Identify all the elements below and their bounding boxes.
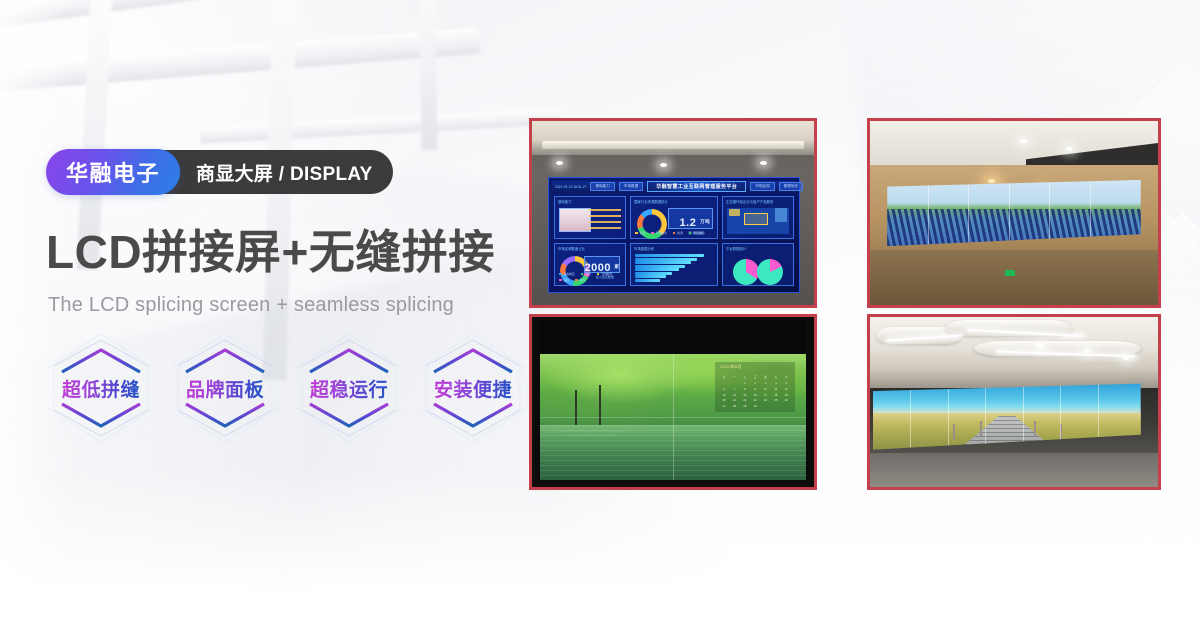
gallery-photo-indoor-willow-lake-wall[interactable]: 2021年6月 日 一 二 三 四 五 六 1 2 (529, 314, 817, 490)
dashboard-metric-value: 1.2 (680, 217, 697, 229)
dashboard-tab[interactable]: 管理系统 (779, 182, 803, 191)
calendar-day: 21 (730, 398, 739, 403)
feature-badge: 超低拼缝 (46, 332, 156, 444)
calendar-day: 3 (761, 381, 770, 386)
gallery-photo-hall-long-curved-wall[interactable] (867, 314, 1161, 490)
dashboard-legend-item: 检测 (673, 231, 683, 235)
feature-badge: 品牌面板 (170, 332, 280, 444)
calendar-day: 27 (719, 404, 728, 409)
dashboard-tab[interactable]: 市场数据 (619, 182, 643, 191)
feature-badge: 超稳运行 (294, 332, 404, 444)
feature-badge-label: 品牌面板 (186, 375, 264, 402)
calendar-day: 24 (761, 398, 770, 403)
dashboard-tab[interactable]: 市场监测 (750, 182, 774, 191)
calendar-day: 23 (751, 398, 760, 403)
calendar-day: 20 (719, 398, 728, 403)
calendar-day: 19 (782, 393, 791, 398)
dashboard-legend-item: 运输 (559, 278, 569, 282)
dashboard-card: 市场数据分布 (630, 243, 718, 286)
video-wall-screen: 2021年6月 日 一 二 三 四 五 六 1 2 (540, 354, 805, 480)
dashboard-card-heading: 基础能力 (558, 199, 572, 204)
dashboard-tab[interactable]: 基础能力 (590, 182, 614, 191)
brand-pill-label: 华融电子 (66, 156, 160, 188)
calendar-day: 16 (751, 393, 760, 398)
calendar-weekday: 一 (730, 375, 739, 380)
exit-sign-icon (1005, 270, 1015, 276)
calendar-day (719, 381, 728, 386)
dashboard-header: 2021-09-13 16:51:27 基础能力 市场数据 华融智慧工业互联网管… (552, 181, 796, 192)
dashboard-card: 平台数据统计 (722, 243, 794, 286)
feature-badge-row: 超低拼缝 品牌面板 (46, 332, 528, 444)
dashboard-card: 国家行业资源数据统计 1.2 万吨 累计处理量 管理 环保技术 检测 再生资源 (630, 196, 718, 239)
calendar-day: 6 (719, 387, 728, 392)
calendar-day: 10 (761, 387, 770, 392)
feature-badge-label: 超低拼缝 (62, 375, 140, 402)
gallery-photo-control-room-dashboard[interactable]: 2021-09-13 16:51:27 基础能力 市场数据 华融智慧工业互联网管… (529, 118, 817, 308)
calendar-day: 8 (740, 387, 749, 392)
calendar-day: 13 (719, 393, 728, 398)
calendar-day: 12 (782, 387, 791, 392)
calendar-day: 26 (782, 398, 791, 403)
category-pill-label: 商显大屏 / DISPLAY (196, 159, 373, 186)
calendar-day: 2 (751, 381, 760, 386)
page-subtitle: The LCD splicing screen + seamless splic… (48, 294, 454, 317)
calendar-day: 14 (730, 393, 739, 398)
calendar-weekday: 五 (771, 375, 780, 380)
dashboard-card-heading: 国家行业资源数据统计 (634, 199, 668, 204)
dashboard-card: 市场区域覆盖占比 2000 家 接入企业数量 设备制造 回收 咨询服务 运输 (554, 243, 626, 286)
calendar-day: 18 (771, 393, 780, 398)
dashboard-timestamp: 2021-09-13 16:51:27 (555, 185, 586, 189)
banner-stage: 华融电子 商显大屏 / DISPLAY LCD拼接屏+无缝拼接 The LCD … (0, 0, 1200, 640)
calendar-day (730, 381, 739, 386)
page-title: LCD拼接屏+无缝拼接 (46, 228, 495, 278)
dashboard-card-heading: 生态圈环保企业与用户产品服务 (726, 199, 773, 204)
calendar-weekday: 四 (761, 375, 770, 380)
dashboard-metric-unit: 万吨 (700, 219, 710, 225)
calendar-day: 5 (782, 381, 791, 386)
calendar-day: 25 (771, 398, 780, 403)
calendar-day: 9 (751, 387, 760, 392)
calendar-day: 22 (740, 398, 749, 403)
dashboard-legend-item: 设备制造 (559, 272, 575, 276)
calendar-day: 17 (761, 393, 770, 398)
calendar-day: 30 (751, 404, 760, 409)
feature-badge: 安装便捷 (418, 332, 528, 444)
dashboard-card: 生态圈环保企业与用户产品服务 (722, 196, 794, 239)
feature-badge-label: 超稳运行 (310, 375, 388, 402)
calendar-weekday: 二 (740, 375, 749, 380)
dashboard-metric-unit: 家 (614, 264, 619, 270)
dashboard-legend-item: 再生资源 (689, 231, 705, 235)
feature-badge-label: 安装便捷 (434, 375, 512, 402)
calendar-day: 1 (740, 381, 749, 386)
dashboard-legend-item: 环保技术 (651, 231, 667, 235)
calendar-header: 2021年6月 (720, 364, 742, 370)
calendar-weekday: 三 (751, 375, 760, 380)
banner-text-column: 华融电子 商显大屏 / DISPLAY LCD拼接屏+无缝拼接 The LCD … (46, 0, 526, 640)
dashboard-card-heading: 市场区域覆盖占比 (558, 246, 585, 251)
dashboard-legend-item: 管理 (635, 231, 645, 235)
gallery-photo-corridor-wide-wall[interactable] (867, 118, 1161, 308)
product-photo-grid: 2021-09-13 16:51:27 基础能力 市场数据 华融智慧工业互联网管… (529, 118, 1161, 490)
calendar-weekday: 六 (782, 375, 791, 380)
brand-pill: 华融电子 (46, 149, 180, 195)
calendar-day: 15 (740, 393, 749, 398)
calendar-day: 29 (740, 404, 749, 409)
dashboard-legend-item: 其他 (575, 278, 585, 282)
brand-pill-row: 华融电子 商显大屏 / DISPLAY (46, 148, 393, 196)
calendar-weekday: 日 (719, 375, 728, 380)
dashboard-screen: 2021-09-13 16:51:27 基础能力 市场数据 华融智慧工业互联网管… (548, 177, 800, 293)
dashboard-legend-item: 咨询服务 (597, 272, 613, 276)
calendar-day: 4 (771, 381, 780, 386)
dashboard-title: 华融智慧工业互联网管理服务平台 (647, 181, 746, 192)
dashboard-card-heading: 市场数据分布 (634, 246, 654, 251)
calendar-day: 11 (771, 387, 780, 392)
calendar-day: 28 (730, 404, 739, 409)
dashboard-card-heading: 平台数据统计 (726, 246, 746, 251)
calendar-day: 7 (730, 387, 739, 392)
calendar-grid: 日 一 二 三 四 五 六 1 2 3 4 (719, 375, 791, 409)
dashboard-legend-item: 回收 (581, 272, 591, 276)
dashboard-card: 基础能力 (554, 196, 626, 239)
calendar-overlay: 2021年6月 日 一 二 三 四 五 六 1 2 (715, 362, 795, 412)
